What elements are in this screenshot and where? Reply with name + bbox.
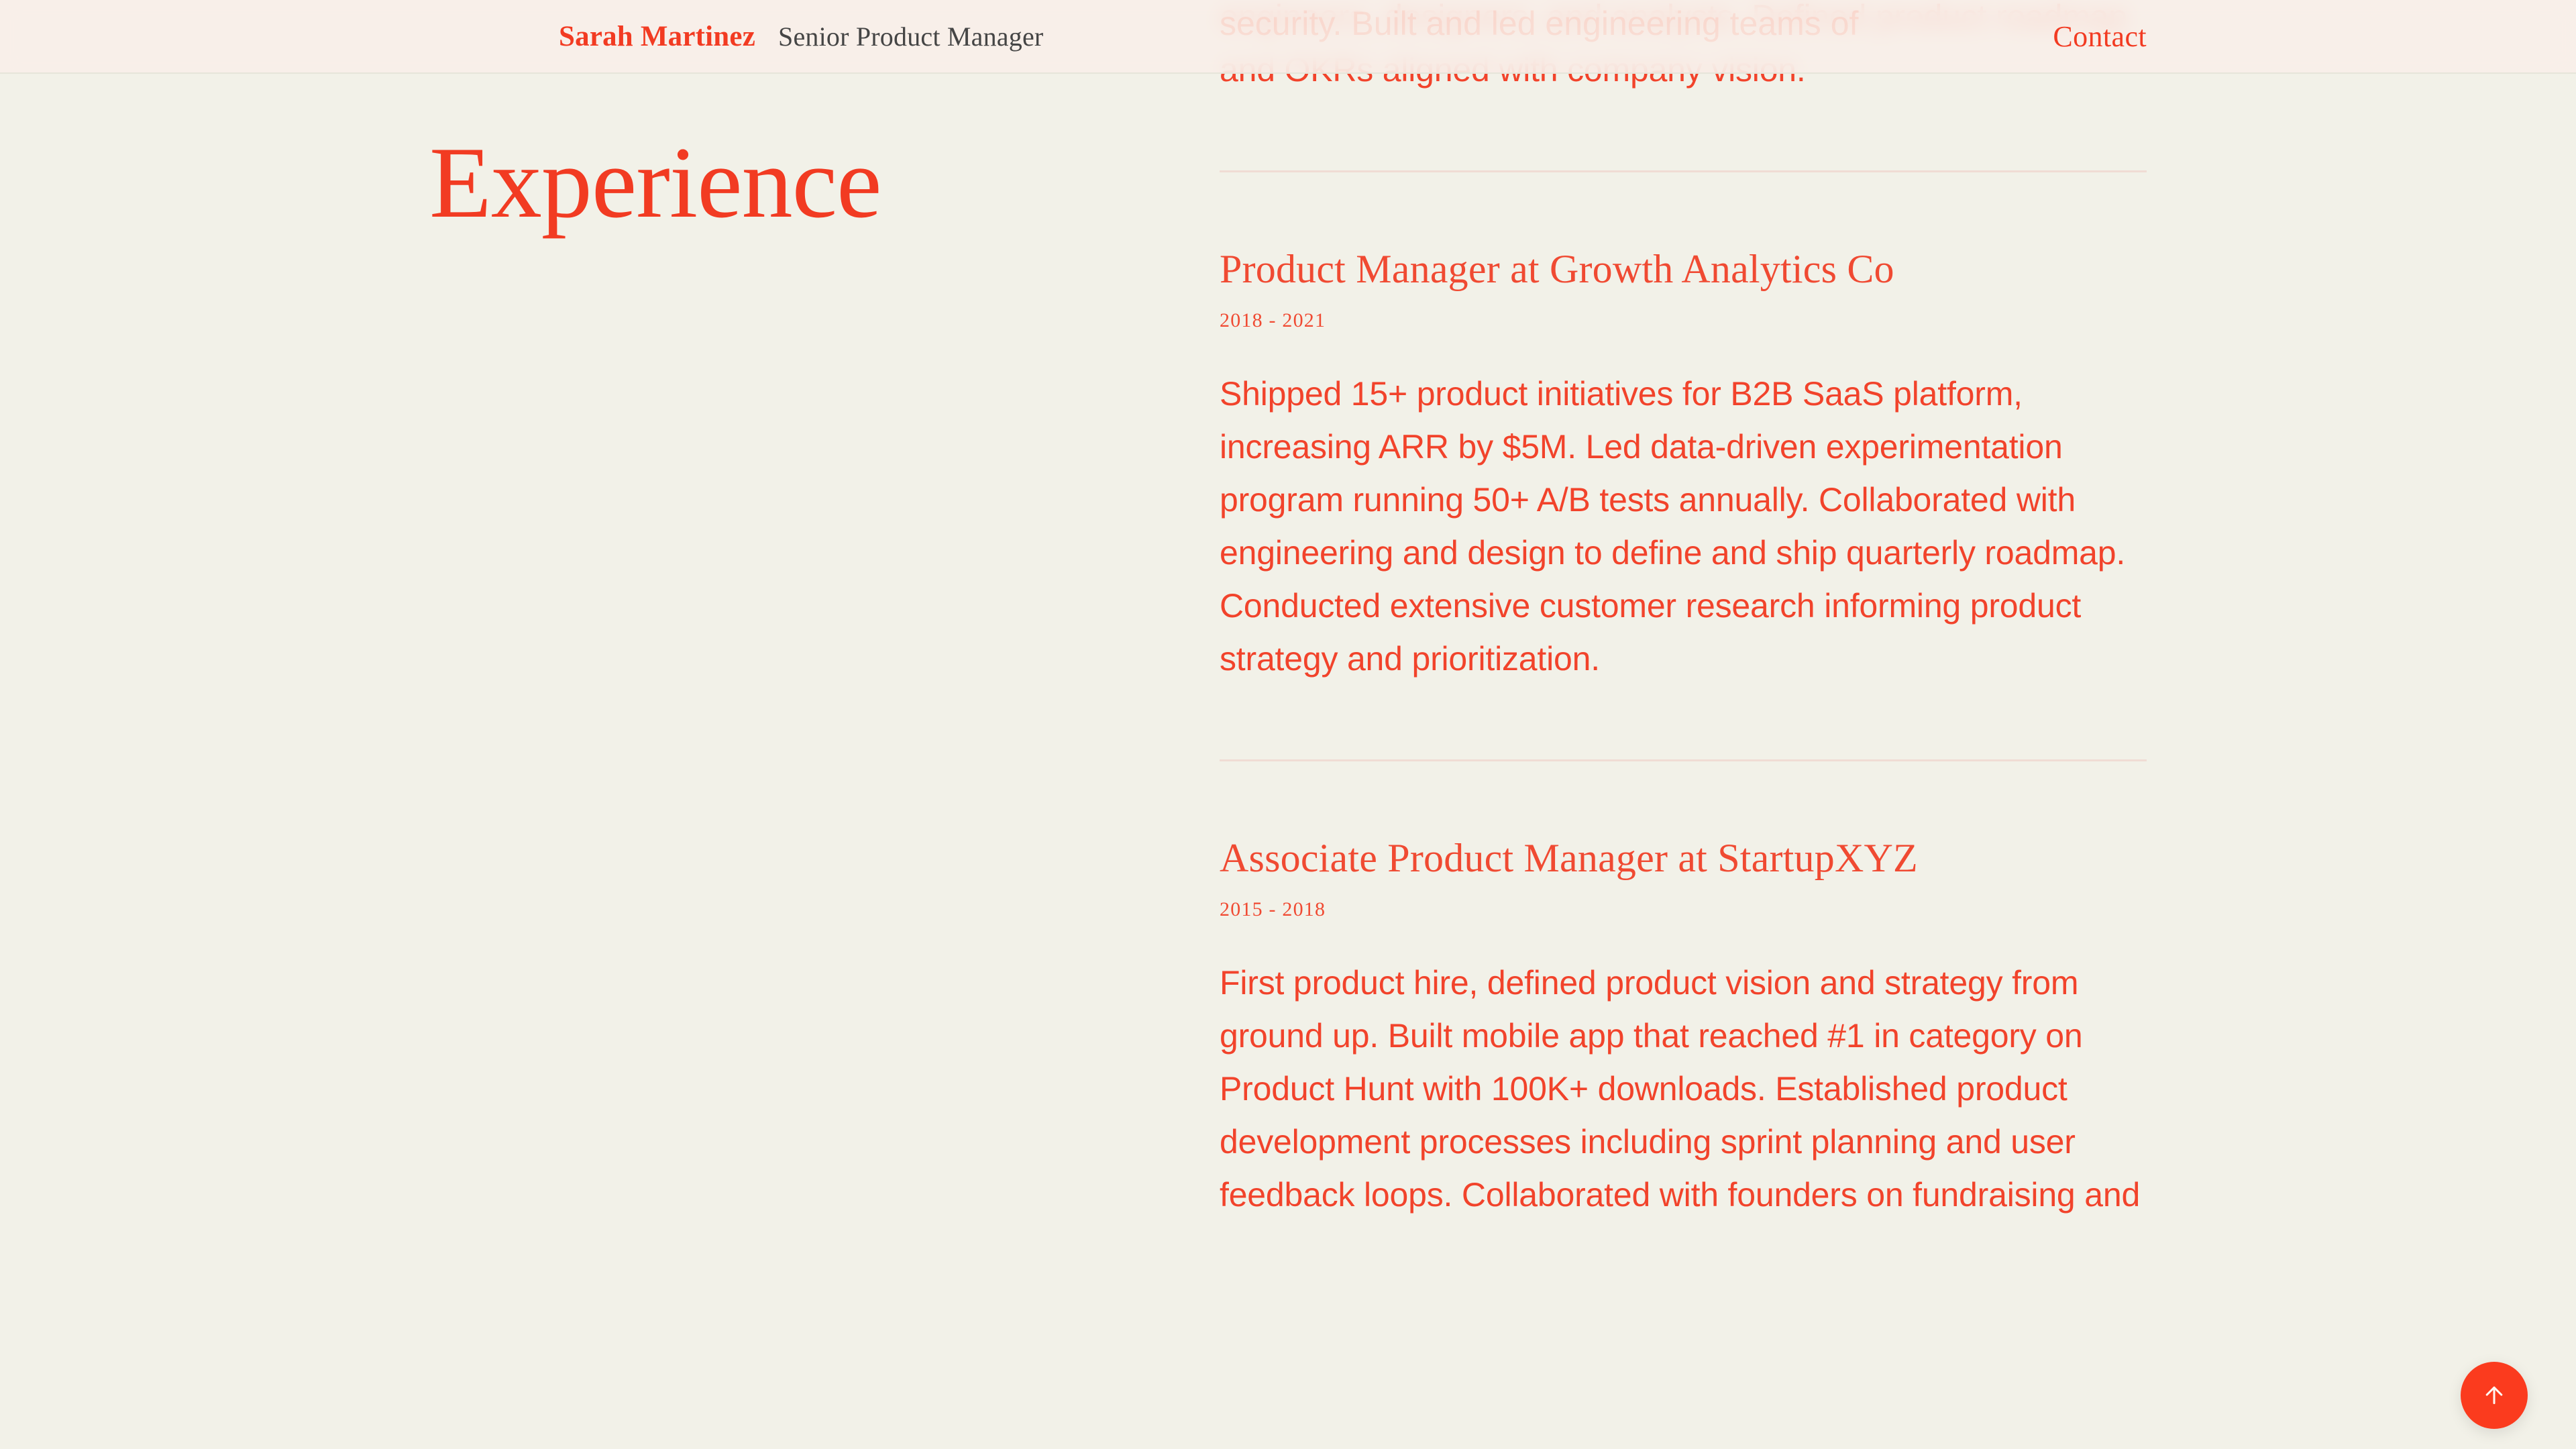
experience-section: Experience engineers, designers, and ana… (0, 0, 2576, 1222)
brand[interactable]: Sarah Martinez Senior Product Manager (559, 20, 1043, 53)
scroll-to-top-button[interactable] (2461, 1362, 2528, 1429)
experience-job-dates: 2018 - 2021 (1220, 309, 2147, 333)
experience-entry: Associate Product Manager at StartupXYZ … (1220, 835, 2147, 1222)
experience-job-title: Associate Product Manager at StartupXYZ (1220, 835, 2147, 881)
arrow-up-icon (2481, 1382, 2508, 1409)
page-title: Experience (429, 131, 1220, 233)
page-viewport: Experience engineers, designers, and ana… (0, 0, 2576, 1449)
nav-link-contact[interactable]: Contact (2053, 19, 2147, 54)
experience-entry: Product Manager at Growth Analytics Co 2… (1220, 246, 2147, 761)
header-ghost-text: security. Built and led engineering team… (1220, 0, 2147, 50)
entry-divider (1220, 170, 2147, 172)
brand-role: Senior Product Manager (778, 21, 1043, 52)
brand-name[interactable]: Sarah Martinez (559, 20, 755, 53)
experience-description: Shipped 15+ product initiatives for B2B … (1220, 368, 2147, 686)
experience-description: First product hire, defined product visi… (1220, 957, 2147, 1222)
site-header: security. Built and led engineering team… (0, 0, 2576, 74)
entry-divider (1220, 759, 2147, 761)
experience-job-dates: 2015 - 2018 (1220, 898, 2147, 922)
experience-list: engineers, designers, and analysts. Defi… (1220, 0, 2576, 1222)
page-content: Experience engineers, designers, and ana… (0, 0, 2576, 1222)
experience-job-title: Product Manager at Growth Analytics Co (1220, 246, 2147, 292)
